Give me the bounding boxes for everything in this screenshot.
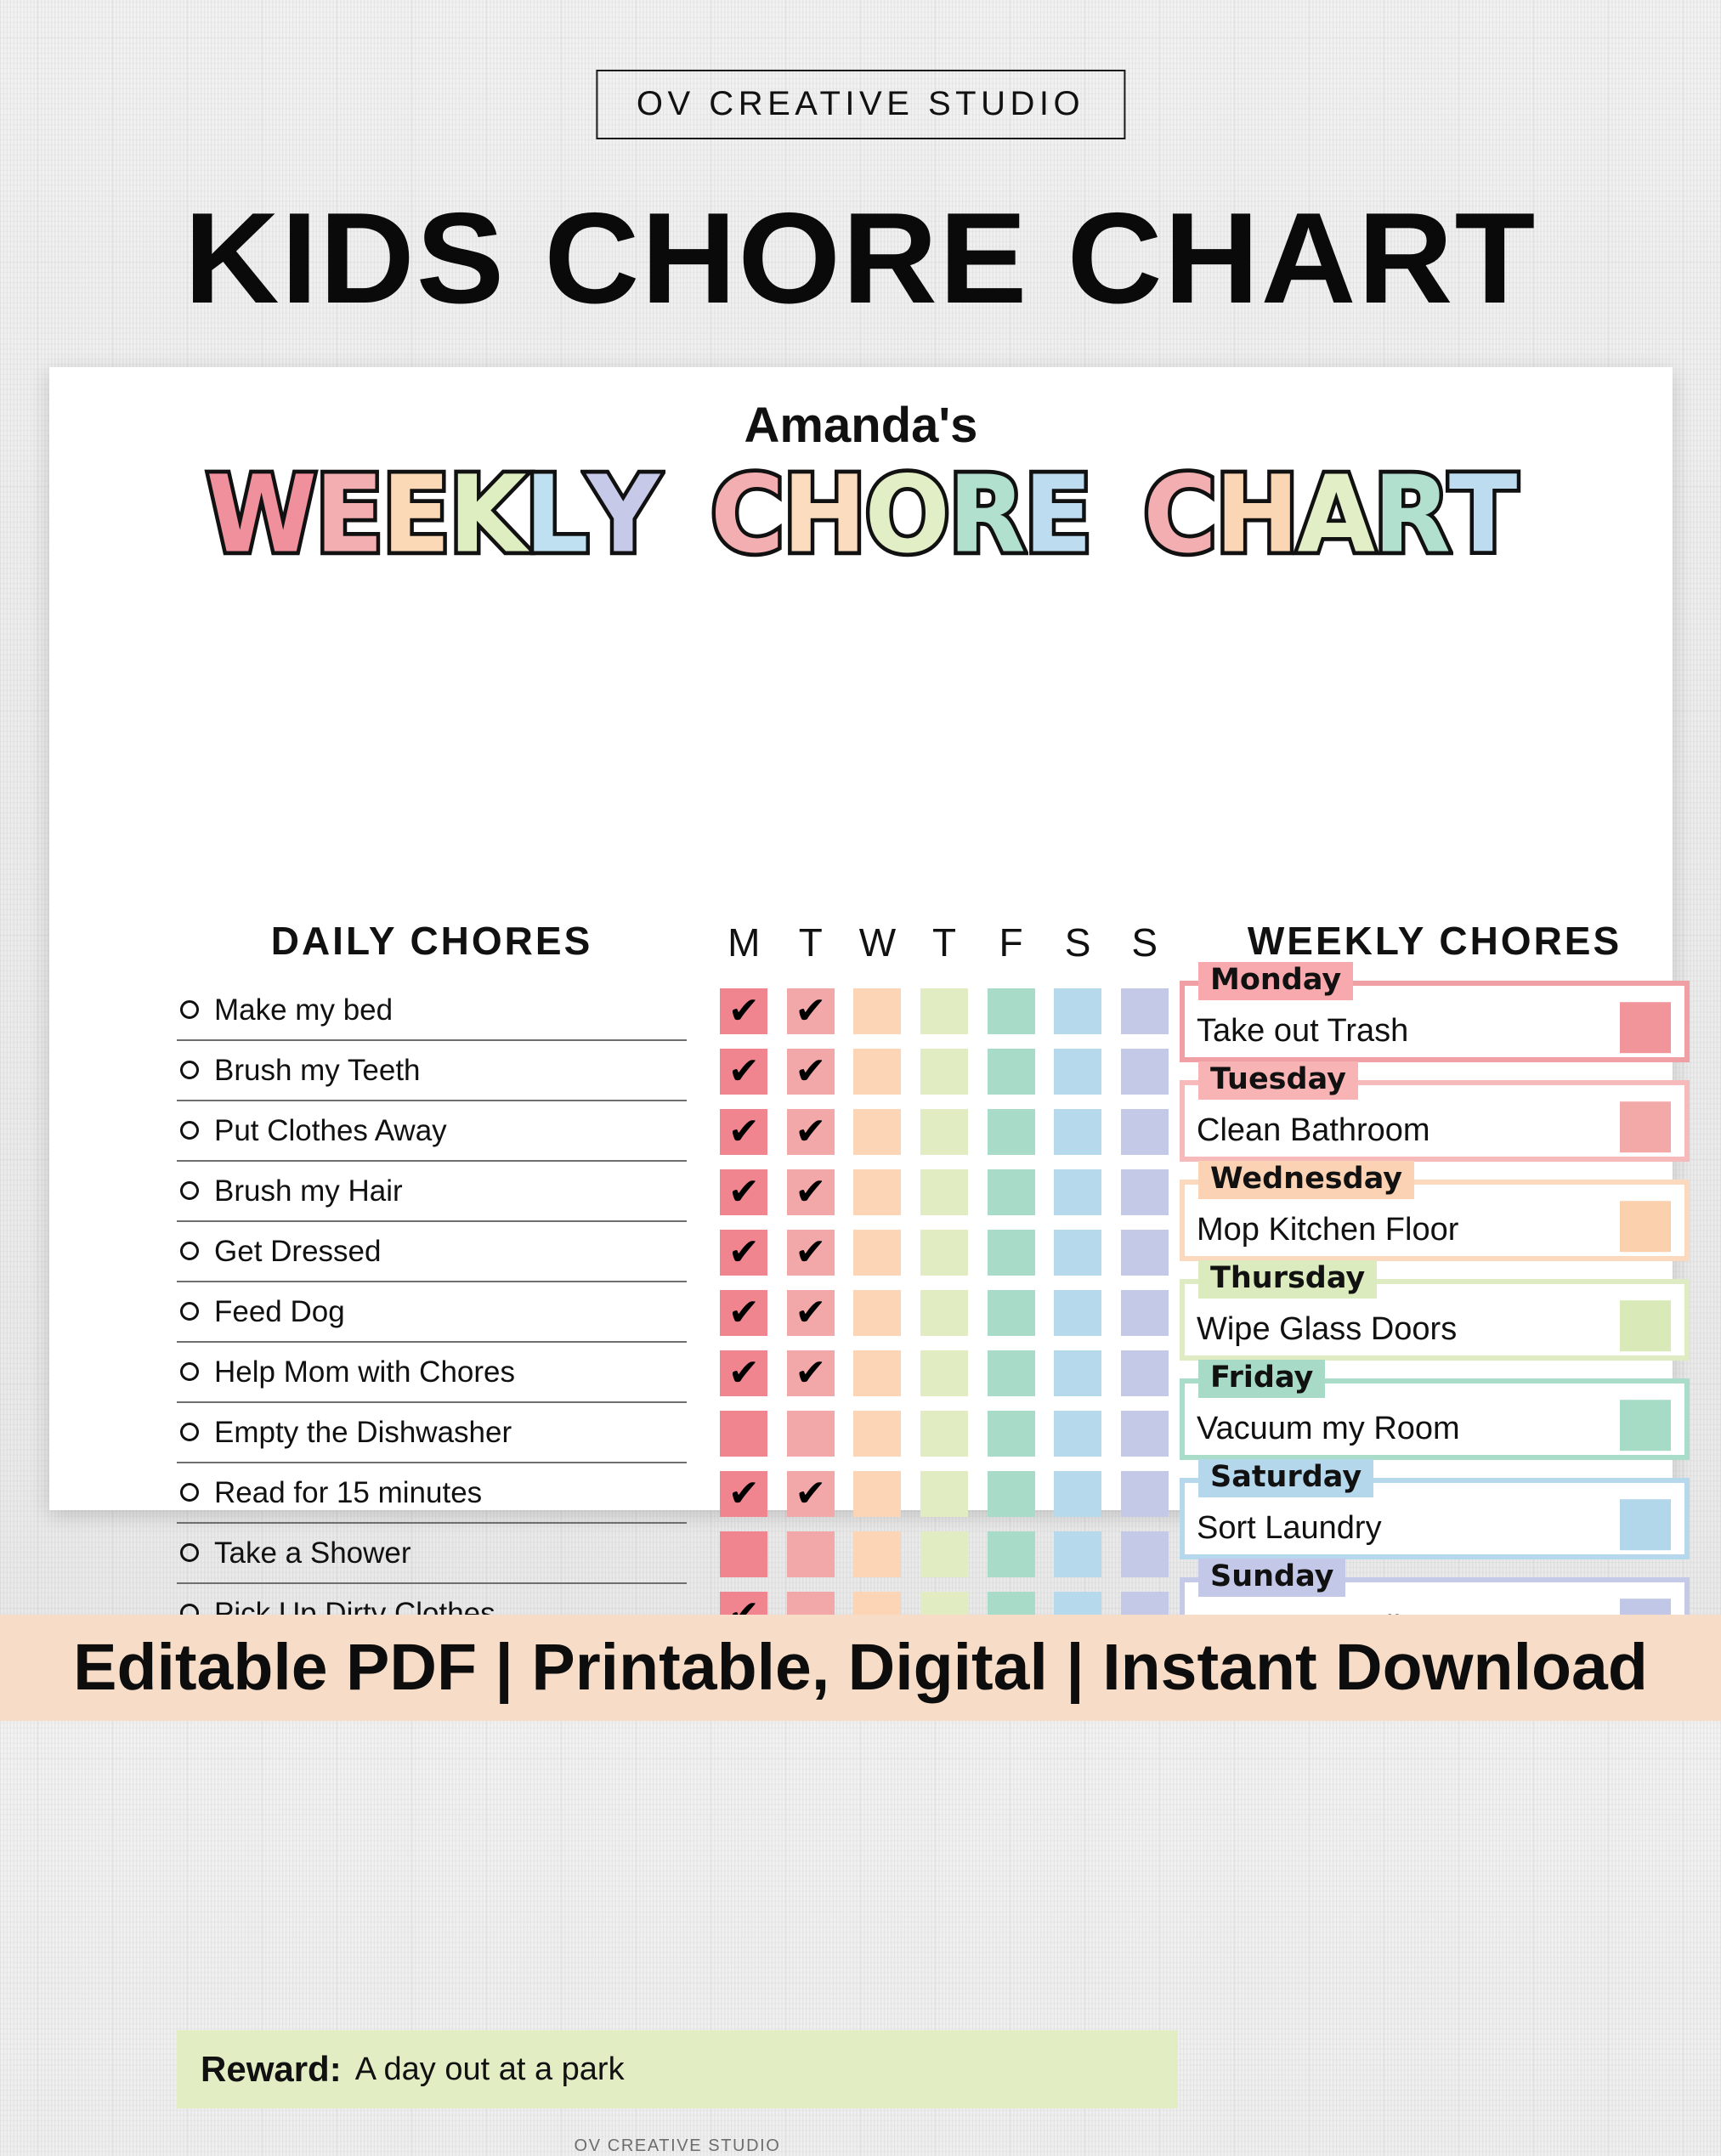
chore-check-box[interactable]	[988, 1109, 1035, 1155]
check-icon: ✔	[787, 1230, 835, 1276]
brand-name: OV CREATIVE STUDIO	[637, 87, 1084, 121]
chore-check-box[interactable]	[853, 1230, 901, 1276]
chore-check-cell[interactable]: ✔	[778, 1222, 845, 1282]
bubble-word-chore: CHORE	[710, 464, 1090, 564]
check-icon: ✔	[787, 1471, 835, 1517]
chore-check-box[interactable]	[920, 1531, 968, 1577]
chore-check-box[interactable]	[853, 1531, 901, 1577]
daily-chore-label: Get Dressed	[214, 1236, 381, 1266]
daily-chores-heading: DAILY CHORES	[177, 918, 687, 964]
chore-check-cell[interactable]	[1044, 1403, 1112, 1463]
chore-check-cell[interactable]: ✔	[710, 1101, 778, 1162]
chore-check-box[interactable]	[853, 1109, 901, 1155]
chore-check-cell[interactable]	[1111, 981, 1178, 1041]
chore-check-box[interactable]	[1121, 1531, 1169, 1577]
chore-check-box[interactable]	[1054, 1109, 1101, 1155]
chore-check-box[interactable]	[988, 1230, 1035, 1276]
bubble-word-chart: CHART	[1143, 464, 1515, 564]
banner-text: Editable PDF | Printable, Digital | Inst…	[73, 1630, 1648, 1706]
checkbox-circle-icon[interactable]	[180, 1483, 199, 1502]
chore-check-box[interactable]: ✔	[787, 1049, 835, 1095]
chore-check-cell[interactable]	[1111, 1524, 1178, 1584]
day-initial-3: T	[911, 920, 978, 965]
chore-check-box[interactable]	[853, 1169, 901, 1215]
chore-check-box[interactable]	[1121, 1411, 1169, 1457]
daily-chore-row[interactable]: Feed Dog	[177, 1282, 687, 1343]
weekly-chore-card[interactable]: WednesdayMop Kitchen Floor	[1180, 1180, 1690, 1261]
chore-check-cell[interactable]	[1044, 1041, 1112, 1101]
daily-chore-row[interactable]: Empty the Dishwasher	[177, 1403, 687, 1463]
chore-check-cell[interactable]	[1044, 1463, 1112, 1524]
chore-check-cell[interactable]	[844, 1403, 911, 1463]
chore-check-cell[interactable]	[1044, 981, 1112, 1041]
checkbox-circle-icon[interactable]	[180, 1543, 199, 1562]
bubble-letter: Y	[587, 461, 658, 567]
checkbox-circle-icon[interactable]	[180, 1362, 199, 1381]
chore-check-cell[interactable]: ✔	[710, 1162, 778, 1222]
chore-check-box[interactable]	[853, 1471, 901, 1517]
daily-chore-row[interactable]: Put Clothes Away	[177, 1101, 687, 1162]
chore-check-box[interactable]: ✔	[720, 1109, 767, 1155]
chore-check-cell[interactable]	[844, 1222, 911, 1282]
weekly-check-box[interactable]	[1620, 1499, 1671, 1550]
chore-check-box[interactable]	[988, 1169, 1035, 1215]
chore-check-cell[interactable]: ✔	[778, 1463, 845, 1524]
chore-check-cell[interactable]	[1044, 1282, 1112, 1343]
chore-check-box[interactable]	[1054, 1471, 1101, 1517]
chore-check-box[interactable]	[920, 988, 968, 1034]
chore-check-cell[interactable]: ✔	[778, 1101, 845, 1162]
chore-check-cell[interactable]	[977, 1162, 1044, 1222]
chore-check-box[interactable]: ✔	[720, 1471, 767, 1517]
chore-check-box[interactable]: ✔	[787, 1471, 835, 1517]
checkbox-circle-icon[interactable]	[180, 1121, 199, 1140]
weekly-day-badge: Friday	[1198, 1360, 1325, 1398]
chore-check-box[interactable]: ✔	[720, 1290, 767, 1336]
weekly-chores-list: MondayTake out TrashTuesdayClean Bathroo…	[1180, 981, 1690, 1677]
check-icon: ✔	[787, 1109, 835, 1155]
reward-label: Reward:	[201, 2049, 342, 2090]
check-icon: ✔	[720, 1230, 767, 1276]
page-title: KIDS CHORE CHART	[0, 194, 1721, 323]
bubble-letter: E	[315, 461, 382, 567]
checkbox-circle-icon[interactable]	[180, 1061, 199, 1079]
chore-check-cell[interactable]	[844, 1101, 911, 1162]
bubble-letter: R	[1373, 461, 1449, 567]
chore-check-box[interactable]: ✔	[787, 1169, 835, 1215]
chore-check-cell[interactable]	[1044, 1343, 1112, 1403]
chore-check-box[interactable]	[1054, 1411, 1101, 1457]
chore-check-cell[interactable]	[778, 1524, 845, 1584]
chore-check-cell[interactable]	[911, 981, 978, 1041]
weekly-chore-card[interactable]: MondayTake out Trash	[1180, 981, 1690, 1062]
chore-check-box[interactable]	[1121, 1109, 1169, 1155]
chore-check-box[interactable]	[1121, 1471, 1169, 1517]
chore-check-box[interactable]	[920, 1411, 968, 1457]
chore-check-box[interactable]: ✔	[787, 1290, 835, 1336]
check-icon: ✔	[787, 1049, 835, 1095]
bubble-letter: L	[524, 461, 586, 567]
daily-chore-label: Brush my Hair	[214, 1176, 403, 1206]
weekly-check-box[interactable]	[1620, 1400, 1671, 1451]
chore-check-cell[interactable]	[1111, 1041, 1178, 1101]
weekly-chore-card[interactable]: FridayVacuum my Room	[1180, 1378, 1690, 1460]
bubble-letter: A	[1298, 461, 1373, 567]
reward-bar: Reward: A day out at a park	[177, 2030, 1178, 2108]
chore-check-box[interactable]	[853, 1290, 901, 1336]
chore-check-box[interactable]	[1054, 1169, 1101, 1215]
chore-check-cell[interactable]	[778, 1403, 845, 1463]
check-icon: ✔	[787, 1290, 835, 1336]
chore-check-box[interactable]	[920, 1169, 968, 1215]
chore-check-box[interactable]	[988, 1350, 1035, 1396]
weekly-chore-card[interactable]: TuesdayClean Bathroom	[1180, 1080, 1690, 1162]
chore-check-cell[interactable]	[844, 1282, 911, 1343]
chore-check-box[interactable]	[853, 1411, 901, 1457]
chore-check-box[interactable]: ✔	[787, 988, 835, 1034]
bubble-title: WEEKLYCHORECHART	[49, 462, 1673, 564]
chore-check-box[interactable]: ✔	[720, 1230, 767, 1276]
chore-check-cell[interactable]: ✔	[710, 1463, 778, 1524]
daily-chore-label: Read for 15 minutes	[214, 1478, 482, 1508]
daily-chore-label: Empty the Dishwasher	[214, 1418, 512, 1447]
weekly-chore-card[interactable]: ThursdayWipe Glass Doors	[1180, 1279, 1690, 1361]
chore-check-box[interactable]	[1054, 1230, 1101, 1276]
chore-check-cell[interactable]	[1111, 1101, 1178, 1162]
day-initial-0: M	[710, 920, 778, 965]
daily-chore-row[interactable]: Get Dressed	[177, 1222, 687, 1282]
daily-chore-row[interactable]: Help Mom with Chores	[177, 1343, 687, 1403]
weekly-chore-task[interactable]: Mop Kitchen Floor	[1185, 1193, 1458, 1248]
chore-check-box[interactable]	[1054, 1049, 1101, 1095]
bubble-letter: W	[207, 461, 315, 567]
bubble-letter: E	[1024, 461, 1091, 567]
chore-check-box[interactable]	[720, 1531, 767, 1577]
chore-check-cell[interactable]	[977, 1041, 1044, 1101]
weekly-check-box[interactable]	[1620, 1002, 1671, 1053]
daily-chore-label: Take a Shower	[214, 1538, 411, 1568]
chore-check-box[interactable]	[787, 1531, 835, 1577]
weekly-check-box[interactable]	[1620, 1300, 1671, 1351]
daily-chore-row[interactable]: Make my bed	[177, 981, 687, 1041]
kid-name: Amanda's	[49, 401, 1673, 450]
chore-check-cell[interactable]	[844, 1524, 911, 1584]
weekly-day-badge: Sunday	[1198, 1559, 1345, 1597]
check-icon: ✔	[720, 1471, 767, 1517]
bubble-letter: E	[382, 461, 449, 567]
check-icon: ✔	[720, 988, 767, 1034]
chore-check-box[interactable]	[720, 1411, 767, 1457]
weekly-check-box[interactable]	[1620, 1101, 1671, 1152]
weekly-chore-task[interactable]: Take out Trash	[1185, 994, 1408, 1050]
daily-chore-row[interactable]: Take a Shower	[177, 1524, 687, 1584]
chore-check-cell[interactable]	[1111, 1222, 1178, 1282]
bubble-letter: H	[1215, 461, 1298, 567]
weekly-chore-task[interactable]: Sort Laundry	[1185, 1491, 1382, 1547]
chore-check-cell[interactable]	[844, 1041, 911, 1101]
chore-check-box[interactable]: ✔	[787, 1230, 835, 1276]
check-icon: ✔	[720, 1350, 767, 1396]
chore-check-box[interactable]	[1054, 1350, 1101, 1396]
chore-check-box[interactable]	[988, 1471, 1035, 1517]
checkbox-circle-icon[interactable]	[180, 1000, 199, 1019]
chore-check-box[interactable]	[1121, 1230, 1169, 1276]
chore-check-cell[interactable]	[911, 1041, 978, 1101]
chore-check-cell[interactable]	[911, 1282, 978, 1343]
chore-check-box[interactable]	[988, 1049, 1035, 1095]
chore-check-cell[interactable]: ✔	[710, 981, 778, 1041]
check-icon: ✔	[720, 1049, 767, 1095]
bottom-banner: Editable PDF | Printable, Digital | Inst…	[0, 1615, 1721, 1721]
chore-check-cell[interactable]	[977, 1282, 1044, 1343]
day-initial-1: T	[778, 920, 845, 965]
daily-chore-row[interactable]: Brush my Hair	[177, 1162, 687, 1222]
chore-check-cell[interactable]	[977, 981, 1044, 1041]
chore-check-box[interactable]: ✔	[720, 988, 767, 1034]
bubble-letter: K	[449, 461, 524, 567]
bubble-letter: T	[1449, 461, 1516, 567]
chore-check-box[interactable]	[988, 1531, 1035, 1577]
chore-check-cell[interactable]	[911, 1343, 978, 1403]
chore-check-box[interactable]	[1121, 1169, 1169, 1215]
reward-value[interactable]: A day out at a park	[355, 2051, 625, 2088]
chore-check-cell[interactable]	[1111, 1282, 1178, 1343]
chore-check-cell[interactable]	[911, 1222, 978, 1282]
weekly-day-badge: Monday	[1198, 962, 1353, 1000]
daily-chores-list: Make my bedBrush my TeethPut Clothes Awa…	[177, 981, 687, 1705]
chore-check-cell[interactable]: ✔	[778, 981, 845, 1041]
daily-chore-label: Put Clothes Away	[214, 1116, 447, 1146]
chore-check-box[interactable]	[1054, 1531, 1101, 1577]
chore-check-box[interactable]: ✔	[720, 1169, 767, 1215]
chore-check-box[interactable]	[1054, 988, 1101, 1034]
chore-check-box[interactable]	[988, 1411, 1035, 1457]
chore-check-cell[interactable]	[1044, 1101, 1112, 1162]
chore-check-box[interactable]	[988, 1290, 1035, 1336]
chore-check-cell[interactable]	[977, 1403, 1044, 1463]
chore-check-box[interactable]	[1121, 1290, 1169, 1336]
chore-check-box[interactable]	[920, 1230, 968, 1276]
weekly-day-badge: Thursday	[1198, 1260, 1377, 1299]
chore-check-box[interactable]	[787, 1411, 835, 1457]
chore-check-box[interactable]	[920, 1109, 968, 1155]
check-icon: ✔	[787, 988, 835, 1034]
daily-chore-row[interactable]: Brush my Teeth	[177, 1041, 687, 1101]
chore-check-cell[interactable]	[1111, 1403, 1178, 1463]
day-initials-row: MTWTFSS	[710, 920, 1178, 965]
checkbox-circle-icon[interactable]	[180, 1302, 199, 1321]
chore-check-box[interactable]: ✔	[720, 1350, 767, 1396]
brand-badge: OV CREATIVE STUDIO	[596, 70, 1125, 139]
chore-check-cell[interactable]	[1111, 1343, 1178, 1403]
chore-check-box[interactable]	[920, 1049, 968, 1095]
chore-check-cell[interactable]	[844, 1162, 911, 1222]
chore-check-cell[interactable]	[977, 1524, 1044, 1584]
chore-check-cell[interactable]	[977, 1222, 1044, 1282]
weekly-chore-task[interactable]: Clean Bathroom	[1185, 1094, 1430, 1149]
check-icon: ✔	[720, 1290, 767, 1336]
chore-check-box[interactable]	[920, 1350, 968, 1396]
chore-check-box[interactable]	[853, 1049, 901, 1095]
check-icon: ✔	[787, 1169, 835, 1215]
chore-check-cell[interactable]: ✔	[778, 1343, 845, 1403]
chore-check-cell[interactable]: ✔	[778, 1041, 845, 1101]
chore-check-box[interactable]	[920, 1290, 968, 1336]
chore-check-cell[interactable]: ✔	[710, 1041, 778, 1101]
chore-check-cell[interactable]: ✔	[778, 1162, 845, 1222]
bubble-letter: C	[1143, 461, 1215, 567]
chore-check-cell[interactable]	[911, 1162, 978, 1222]
bubble-letter: O	[865, 461, 948, 567]
chore-check-cell[interactable]	[844, 1343, 911, 1403]
chore-check-cell[interactable]: ✔	[710, 1282, 778, 1343]
chore-check-cell[interactable]	[977, 1343, 1044, 1403]
chore-check-cell[interactable]	[1111, 1463, 1178, 1524]
chore-check-box[interactable]	[1121, 988, 1169, 1034]
chore-check-cell[interactable]	[911, 1403, 978, 1463]
weekly-chores-heading: WEEKLY CHORES	[1180, 918, 1690, 964]
day-initial-5: S	[1044, 920, 1112, 965]
weekly-chore-card[interactable]: SaturdaySort Laundry	[1180, 1478, 1690, 1559]
weekly-check-box[interactable]	[1620, 1201, 1671, 1252]
weekly-day-badge: Saturday	[1198, 1459, 1373, 1497]
daily-chore-label: Feed Dog	[214, 1297, 345, 1327]
bubble-letter: R	[948, 461, 1024, 567]
chore-check-box[interactable]: ✔	[787, 1109, 835, 1155]
checkbox-circle-icon[interactable]	[180, 1423, 199, 1441]
bubble-letter: H	[783, 461, 865, 567]
chore-check-box[interactable]	[1121, 1049, 1169, 1095]
daily-chore-row[interactable]: Read for 15 minutes	[177, 1463, 687, 1524]
check-icon: ✔	[720, 1169, 767, 1215]
chore-check-box[interactable]	[920, 1471, 968, 1517]
chore-check-box[interactable]	[853, 988, 901, 1034]
day-initial-2: W	[844, 920, 911, 965]
daily-chore-label: Brush my Teeth	[214, 1055, 421, 1085]
weekly-chore-task[interactable]: Wipe Glass Doors	[1185, 1293, 1457, 1348]
weekly-day-badge: Tuesday	[1198, 1061, 1358, 1100]
chore-check-box[interactable]	[988, 988, 1035, 1034]
column-headers: DAILY CHORES MTWTFSS WEEKLY CHORES	[49, 918, 1673, 969]
chore-check-cell[interactable]	[1044, 1524, 1112, 1584]
chore-check-cell[interactable]	[977, 1463, 1044, 1524]
check-icon: ✔	[787, 1350, 835, 1396]
checkbox-circle-icon[interactable]	[180, 1181, 199, 1200]
chore-check-cell[interactable]	[911, 1524, 978, 1584]
chore-check-cell[interactable]	[977, 1101, 1044, 1162]
chore-check-box[interactable]	[1121, 1350, 1169, 1396]
sheet-footer-mark: OV CREATIVE STUDIO	[49, 2136, 1305, 2156]
chore-check-cell[interactable]	[911, 1101, 978, 1162]
chore-check-cell[interactable]	[710, 1403, 778, 1463]
bubble-letter: C	[710, 461, 783, 567]
chore-check-cell[interactable]	[1044, 1162, 1112, 1222]
chore-check-cell[interactable]	[1111, 1162, 1178, 1222]
chore-check-box[interactable]	[853, 1350, 901, 1396]
chore-check-cell[interactable]	[1044, 1222, 1112, 1282]
check-icon: ✔	[720, 1109, 767, 1155]
chore-check-box[interactable]: ✔	[787, 1350, 835, 1396]
chore-check-cell[interactable]	[844, 1463, 911, 1524]
chore-check-cell[interactable]: ✔	[710, 1222, 778, 1282]
bubble-word-weekly: WEEKLY	[207, 464, 659, 564]
weekly-day-badge: Wednesday	[1198, 1161, 1414, 1199]
checkbox-circle-icon[interactable]	[180, 1242, 199, 1260]
chore-check-cell[interactable]	[844, 981, 911, 1041]
chore-check-cell[interactable]	[911, 1463, 978, 1524]
chore-check-cell[interactable]: ✔	[778, 1282, 845, 1343]
chore-chart-sheet: Amanda's WEEKLYCHORECHART DAILY CHORES M…	[49, 367, 1673, 1510]
day-initial-4: F	[977, 920, 1044, 965]
chore-check-box[interactable]	[1054, 1290, 1101, 1336]
chore-check-cell[interactable]	[710, 1524, 778, 1584]
chore-check-cell[interactable]: ✔	[710, 1343, 778, 1403]
daily-chore-label: Help Mom with Chores	[214, 1357, 515, 1387]
checkbox-grid: ✔✔✔✔✔✔✔✔✔✔✔✔✔✔✔✔✔✔	[710, 981, 1178, 1705]
day-initial-6: S	[1111, 920, 1178, 965]
chore-check-box[interactable]: ✔	[720, 1049, 767, 1095]
daily-chore-label: Make my bed	[214, 995, 393, 1025]
weekly-chore-task[interactable]: Vacuum my Room	[1185, 1392, 1460, 1447]
